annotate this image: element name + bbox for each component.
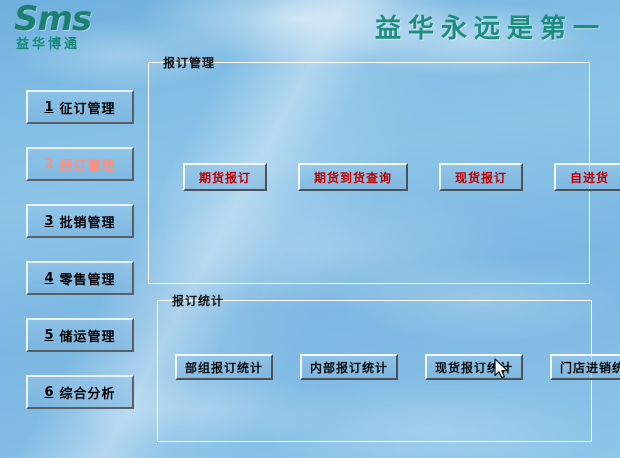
group-order-statistics: 报订统计 部组报订统计 内部报订统计 现货报订统计 门店进销统计 xyxy=(157,300,592,442)
button-self-purchase[interactable]: 自进货 xyxy=(554,163,620,191)
sidebar-item-4-number: 4 xyxy=(44,271,53,286)
sidebar-item-2[interactable]: 2 报订管理 xyxy=(26,147,134,181)
sidebar-item-3-number: 3 xyxy=(44,214,53,229)
button-spot-order-stats[interactable]: 现货报订统计 xyxy=(425,354,523,380)
button-futures-arrival-query[interactable]: 期货到货查询 xyxy=(298,163,408,191)
sidebar-item-4-label: 零售管理 xyxy=(60,269,116,288)
button-spot-order[interactable]: 现货报订 xyxy=(439,163,523,191)
banner-slogan: 益华永远是第一 xyxy=(375,8,606,45)
sidebar-item-6-number: 6 xyxy=(44,385,53,400)
sidebar-item-1-number: 1 xyxy=(44,100,53,115)
sidebar-nav: 1 征订管理 2 报订管理 3 批销管理 4 零售管理 5 储运管理 6 综合分… xyxy=(26,90,134,432)
button-futures-order[interactable]: 期货报订 xyxy=(183,163,267,191)
sidebar-item-2-label: 报订管理 xyxy=(60,155,116,174)
application-window: Sms 益华博通 益华永远是第一 1 征订管理 2 报订管理 3 批销管理 4 … xyxy=(0,0,620,458)
group-order-management: 报订管理 期货报订 期货到货查询 现货报订 自进货 xyxy=(148,62,590,284)
sidebar-item-3[interactable]: 3 批销管理 xyxy=(26,204,134,238)
button-internal-order-stats[interactable]: 内部报订统计 xyxy=(300,354,398,380)
sidebar-item-5-label: 储运管理 xyxy=(60,326,116,345)
sidebar-item-6-label: 综合分析 xyxy=(60,383,116,402)
sidebar-item-2-number: 2 xyxy=(44,157,53,172)
sidebar-item-1-label: 征订管理 xyxy=(60,98,116,117)
button-store-sales-stats[interactable]: 门店进销统计 xyxy=(550,354,620,380)
logo-subtitle: 益华博通 xyxy=(16,37,134,53)
sidebar-item-5-number: 5 xyxy=(44,328,53,343)
sidebar-item-5[interactable]: 5 储运管理 xyxy=(26,318,134,352)
order-statistics-button-row: 部组报订统计 内部报订统计 现货报订统计 门店进销统计 xyxy=(175,354,620,380)
sidebar-item-3-label: 批销管理 xyxy=(60,212,116,231)
sidebar-item-6[interactable]: 6 综合分析 xyxy=(26,375,134,409)
logo-wordmark: Sms xyxy=(14,2,134,36)
group-order-management-title: 报订管理 xyxy=(159,54,219,71)
company-logo: Sms 益华博通 xyxy=(14,2,134,54)
button-department-order-stats[interactable]: 部组报订统计 xyxy=(175,354,273,380)
order-management-button-row: 期货报订 期货到货查询 现货报订 自进货 xyxy=(183,163,620,191)
group-order-statistics-title: 报订统计 xyxy=(168,292,228,309)
sidebar-item-4[interactable]: 4 零售管理 xyxy=(26,261,134,295)
sidebar-item-1[interactable]: 1 征订管理 xyxy=(26,90,134,124)
